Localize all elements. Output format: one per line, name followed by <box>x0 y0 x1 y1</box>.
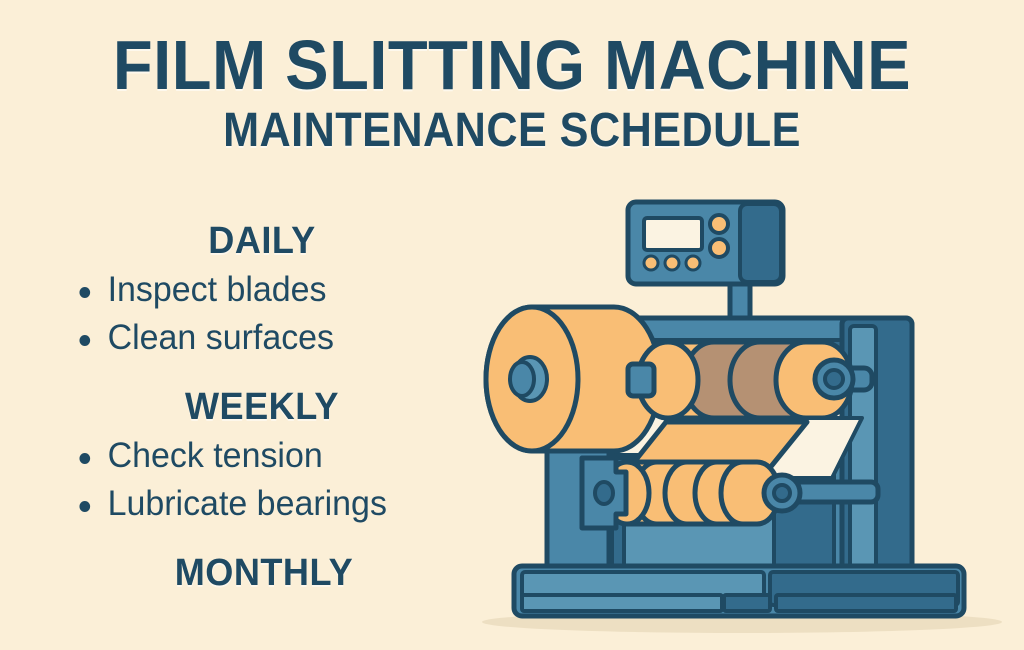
section-heading-daily: DAILY <box>72 218 452 264</box>
control-screen <box>644 218 702 250</box>
list-item: Lubricate bearings <box>62 480 450 528</box>
task-label: Lubricate bearings <box>108 484 387 523</box>
control-button-small[interactable] <box>665 256 679 270</box>
bullet-icon <box>79 501 90 512</box>
section-heading-weekly: WEEKLY <box>72 384 452 430</box>
upper-slitter-roller <box>628 342 872 418</box>
bullet-icon <box>79 453 90 464</box>
poster-canvas: FILM SLITTING MACHINE MAINTENANCE SCHEDU… <box>0 0 1024 650</box>
page-title: FILM SLITTING MACHINE <box>36 28 988 102</box>
list-item: Inspect blades <box>62 266 450 314</box>
list-item: Check tension <box>62 432 450 480</box>
bullet-icon <box>79 335 90 346</box>
page-subtitle: MAINTENANCE SCHEDULE <box>51 104 973 158</box>
film-slitting-machine-illustration: .ol { stroke:#1F4A63; stroke-width:5; st… <box>452 190 1024 650</box>
section-heading-monthly: MONTHLY <box>76 550 452 596</box>
control-button-large[interactable] <box>710 239 728 257</box>
schedule-section-monthly: MONTHLY <box>62 550 462 596</box>
maintenance-schedule-list: DAILY Inspect blades Clean surfaces WEEK… <box>62 218 462 600</box>
task-label: Check tension <box>108 436 323 475</box>
machine-base <box>514 566 964 616</box>
title-block: FILM SLITTING MACHINE MAINTENANCE SCHEDU… <box>0 28 1024 158</box>
schedule-section-weekly: WEEKLY Check tension Lubricate bearings <box>62 384 462 528</box>
bullet-icon <box>79 287 90 298</box>
task-list-daily: Inspect blades Clean surfaces <box>62 266 462 362</box>
task-list-weekly: Check tension Lubricate bearings <box>62 432 462 528</box>
control-button-large[interactable] <box>710 215 728 233</box>
list-item: Clean surfaces <box>62 314 450 362</box>
schedule-section-daily: DAILY Inspect blades Clean surfaces <box>62 218 462 362</box>
task-label: Inspect blades <box>108 270 327 309</box>
task-label: Clean surfaces <box>108 318 334 357</box>
control-panel[interactable] <box>628 202 783 284</box>
control-button-small[interactable] <box>644 256 658 270</box>
control-button-small[interactable] <box>686 256 700 270</box>
